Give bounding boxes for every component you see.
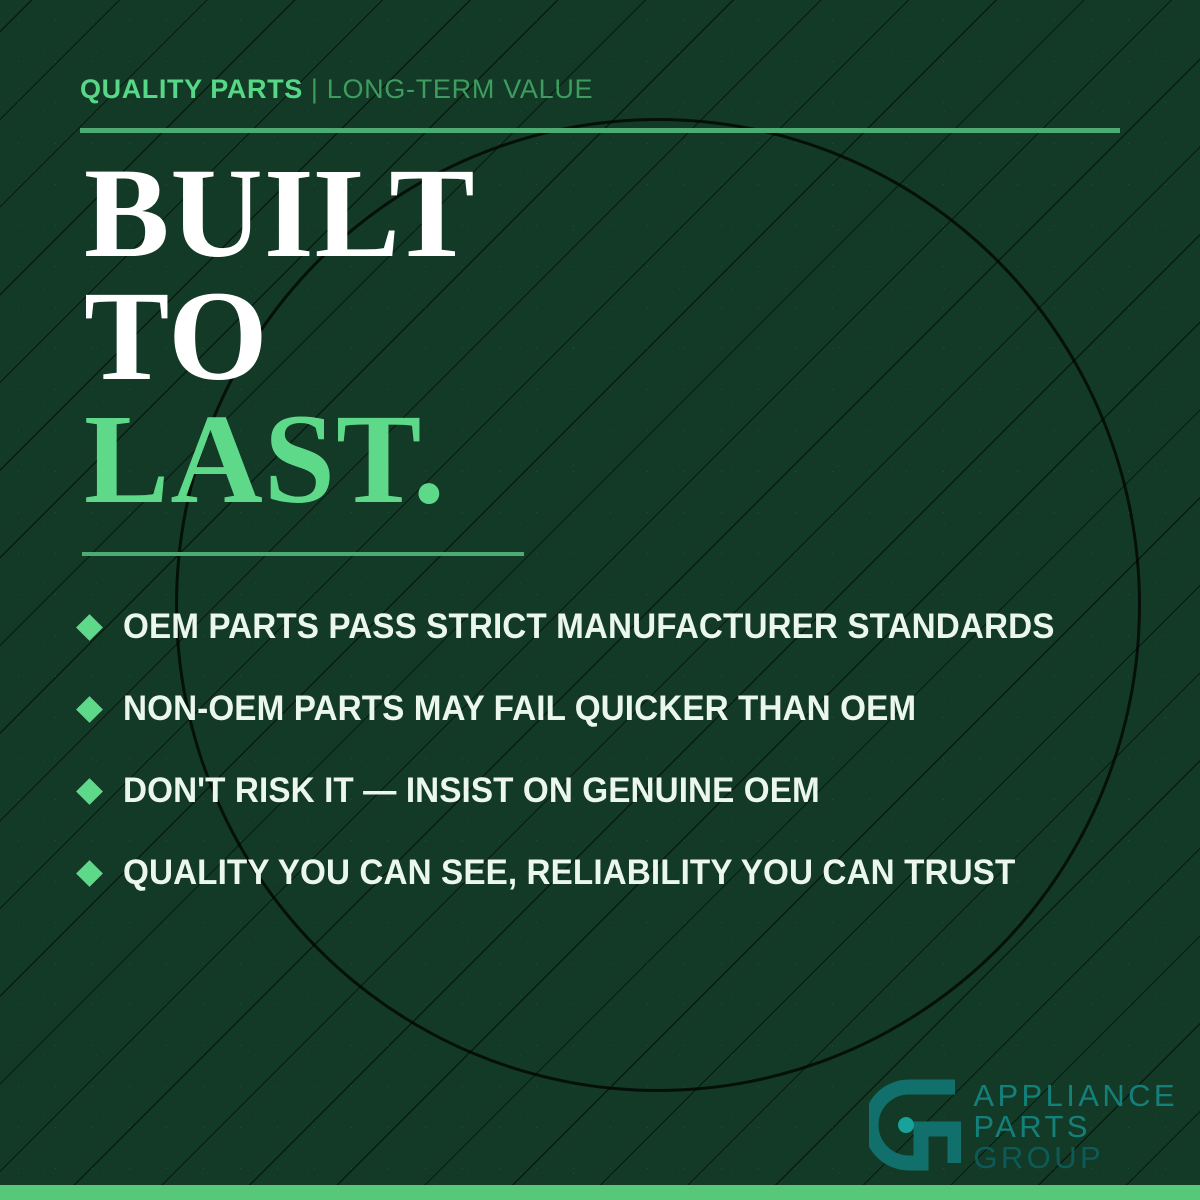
benefits-list: OEM PARTS PASS STRICT MANUFACTURER STAND… (80, 586, 1165, 914)
list-item-label: NON-OEM PARTS MAY FAIL QUICKER THAN OEM (123, 689, 916, 729)
list-item: OEM PARTS PASS STRICT MANUFACTURER STAND… (80, 586, 1165, 668)
diamond-bullet-icon (76, 696, 103, 723)
brand-word-appliance: APPLIANCE (973, 1081, 1178, 1112)
poster-content: QUALITY PARTS| LONG-TERM VALUE BUILT TO … (0, 0, 1200, 1200)
header-divider-rule (80, 128, 1120, 133)
headline-line-1: BUILT (84, 152, 476, 275)
eyebrow-heading: QUALITY PARTS| LONG-TERM VALUE (80, 76, 593, 103)
page-title: BUILT TO LAST. (84, 152, 476, 521)
diamond-bullet-icon (76, 860, 103, 887)
list-item-label: OEM PARTS PASS STRICT MANUFACTURER STAND… (123, 607, 1055, 647)
brand-word-group: GROUP (973, 1143, 1178, 1174)
list-item-label: DON'T RISK IT — INSIST ON GENUINE OEM (123, 771, 820, 811)
list-item: QUALITY YOU CAN SEE, RELIABILITY YOU CAN… (80, 832, 1165, 914)
headline-line-2: TO (84, 275, 476, 398)
headline-line-3: LAST. (84, 398, 476, 521)
brand-wordmark: APPLIANCE PARTS GROUP (973, 1081, 1178, 1173)
g-monogram-icon (869, 1079, 961, 1176)
bottom-accent-bar (0, 1185, 1200, 1200)
diamond-bullet-icon (76, 778, 103, 805)
eyebrow-strong-text: QUALITY PARTS (80, 74, 303, 104)
brand-word-parts: PARTS (973, 1112, 1178, 1143)
list-item-label: QUALITY YOU CAN SEE, RELIABILITY YOU CAN… (123, 853, 1015, 893)
poster-canvas: QUALITY PARTS| LONG-TERM VALUE BUILT TO … (0, 0, 1200, 1200)
eyebrow-sub-text: | LONG-TERM VALUE (311, 74, 593, 104)
diamond-bullet-icon (76, 614, 103, 641)
brand-logo: APPLIANCE PARTS GROUP (869, 1079, 1178, 1176)
list-item: NON-OEM PARTS MAY FAIL QUICKER THAN OEM (80, 668, 1165, 750)
list-item: DON'T RISK IT — INSIST ON GENUINE OEM (80, 750, 1165, 832)
headline-divider-rule (82, 552, 524, 556)
